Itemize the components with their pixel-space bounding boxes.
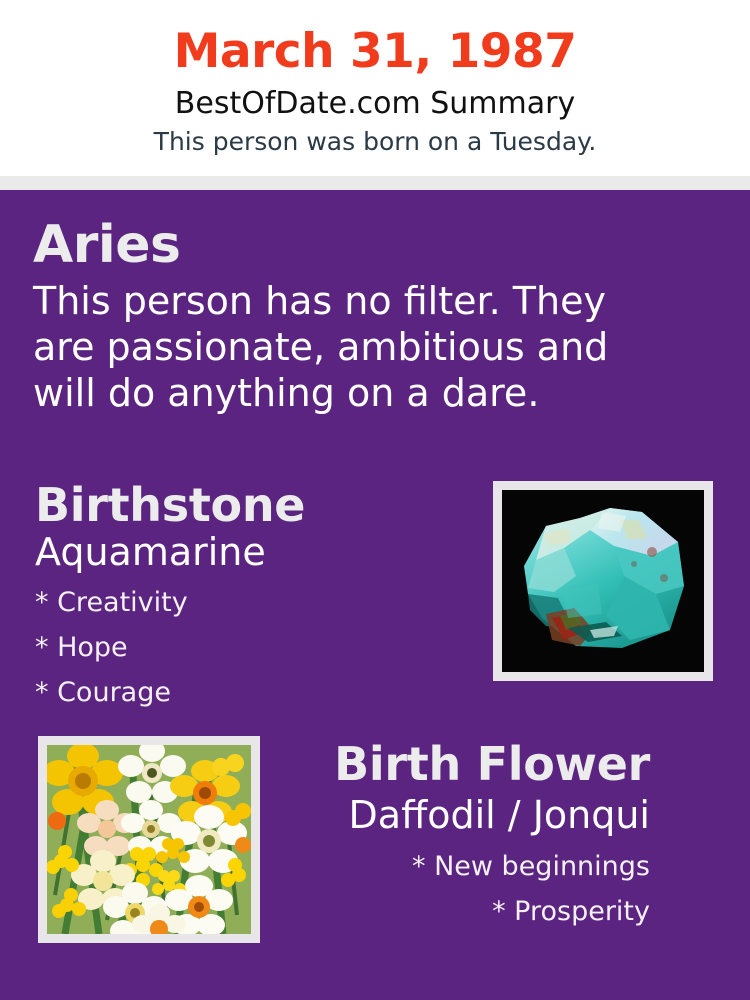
page-title: March 31, 1987 xyxy=(0,24,750,80)
birth-flower-section: Birth Flower Daffodil / Jonqui * New beg… xyxy=(180,736,650,934)
birth-flower-name: Daffodil / Jonqui xyxy=(180,792,650,838)
zodiac-section: Aries This person has no filter. They ar… xyxy=(33,216,673,416)
site-summary-label: BestOfDate.com Summary xyxy=(0,86,750,122)
list-item: * Hope xyxy=(35,625,465,670)
weekday-statement: This person was born on a Tuesday. xyxy=(0,126,750,158)
list-item: * Courage xyxy=(35,670,465,715)
zodiac-sign-title: Aries xyxy=(33,216,673,274)
birthstone-image-frame xyxy=(493,481,713,681)
birthstone-name: Aquamarine xyxy=(35,530,465,574)
header-divider xyxy=(0,176,750,190)
card-header: March 31, 1987 BestOfDate.com Summary Th… xyxy=(0,0,750,176)
list-item: * Creativity xyxy=(35,580,465,625)
aquamarine-crystal-icon xyxy=(502,490,704,672)
list-item: * New beginnings xyxy=(180,844,650,889)
birthstone-section: Birthstone Aquamarine * Creativity * Hop… xyxy=(35,478,465,715)
birthstone-title: Birthstone xyxy=(35,478,465,532)
zodiac-description: This person has no filter. They are pass… xyxy=(33,278,653,416)
aquamarine-crystal-photo xyxy=(502,490,704,672)
birthstone-trait-list: * Creativity * Hope * Courage xyxy=(35,580,465,715)
birth-flower-trait-list: * New beginnings * Prosperity xyxy=(180,844,650,934)
birthday-summary-card: March 31, 1987 BestOfDate.com Summary Th… xyxy=(0,0,750,1000)
birth-flower-title: Birth Flower xyxy=(180,736,650,792)
list-item: * Prosperity xyxy=(180,889,650,934)
